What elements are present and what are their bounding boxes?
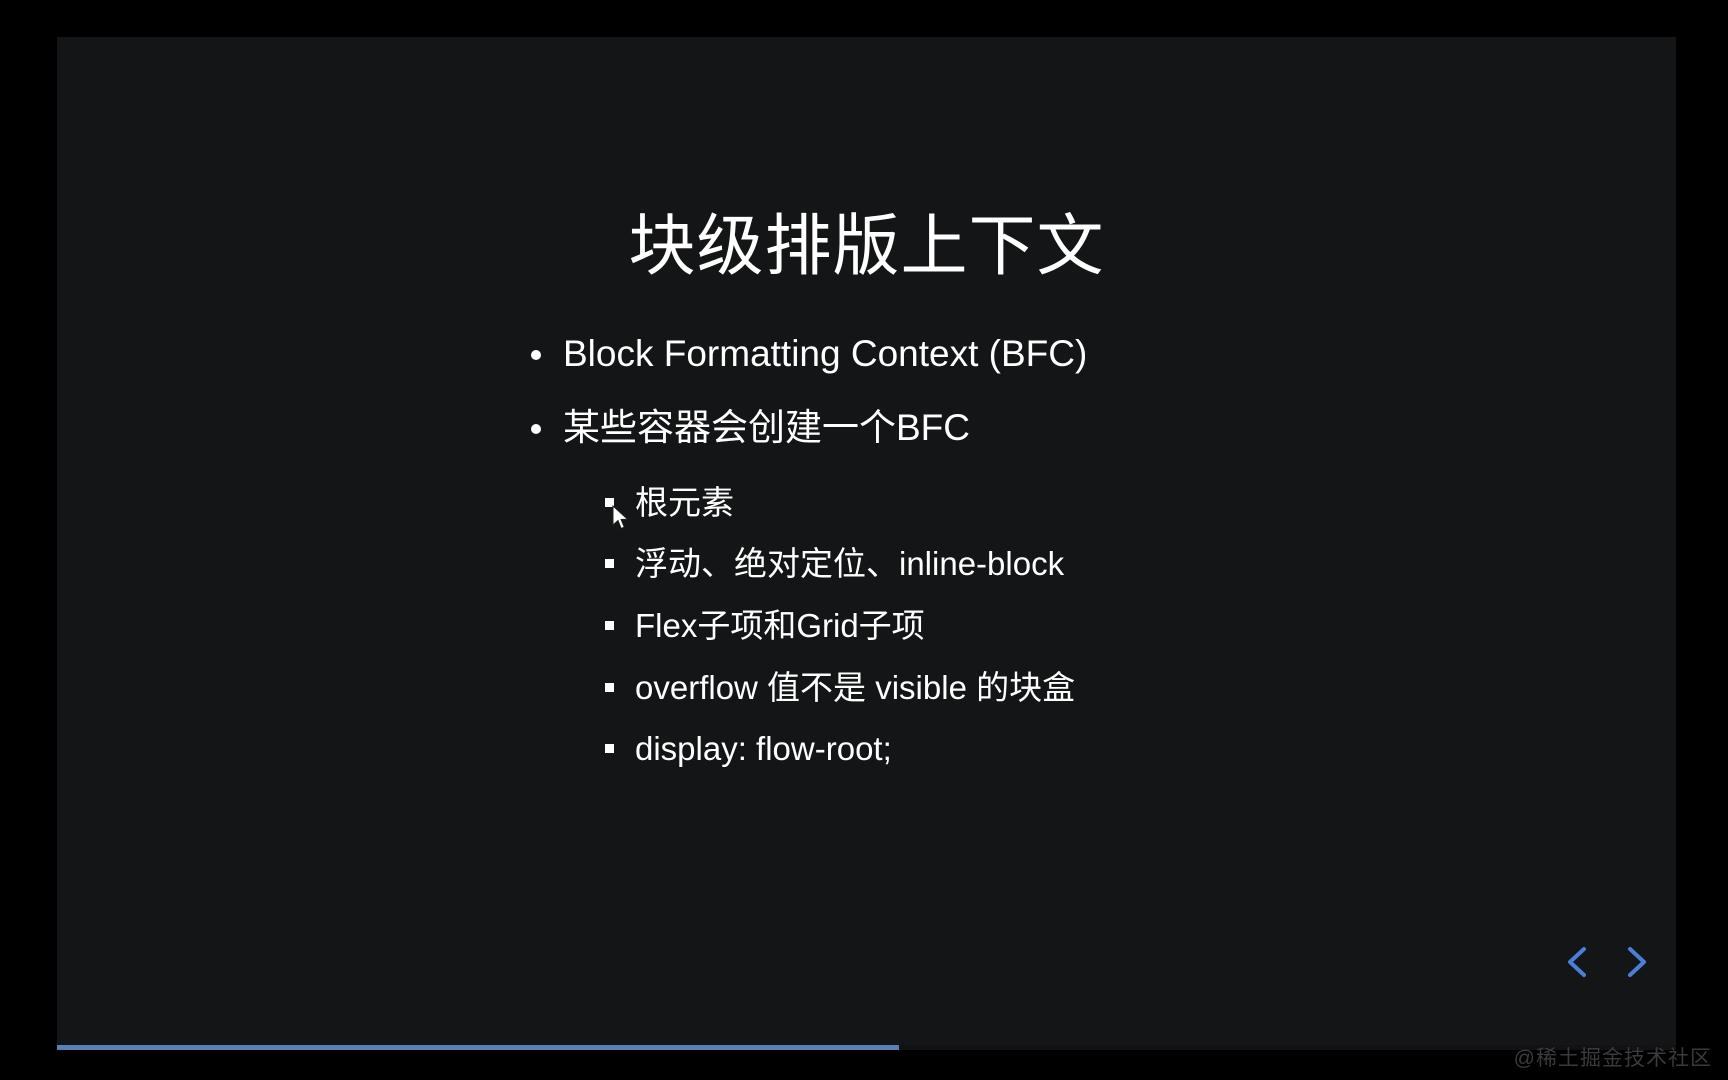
- disc-bullet-icon: [531, 424, 541, 434]
- slide-title: 块级排版上下文: [57, 207, 1676, 286]
- chevron-right-icon[interactable]: [1620, 941, 1654, 983]
- playback-progress-track[interactable]: [57, 1045, 1676, 1050]
- bullet-label: 某些容器会创建一个BFC: [563, 407, 970, 448]
- presentation-slide: 块级排版上下文 Block Formatting Context (BFC) 某…: [57, 37, 1676, 1045]
- square-bullet-icon: [605, 744, 614, 753]
- sub-bullet-item-overflow-not-visible: overflow 值不是 visible 的块盒: [603, 668, 1575, 708]
- sub-bullet-item-flex-grid-items: Flex子项和Grid子项: [603, 606, 1575, 646]
- square-bullet-icon: [605, 498, 614, 507]
- sub-bullet-item-display-flow-root: display: flow-root;: [603, 729, 1575, 769]
- square-bullet-icon: [605, 683, 614, 692]
- sub-bullet-label: overflow 值不是 visible 的块盒: [635, 669, 1075, 706]
- bullet-item-bfc-definition: Block Formatting Context (BFC): [525, 332, 1575, 376]
- sub-bullet-item-float-absolute-inlineblock: 浮动、绝对定位、inline-block: [603, 544, 1575, 584]
- disc-bullet-icon: [531, 350, 541, 360]
- video-player-canvas[interactable]: 块级排版上下文 Block Formatting Context (BFC) 某…: [0, 0, 1728, 1080]
- sub-bullet-label: 根元素: [635, 484, 734, 521]
- sub-bullet-label: display: flow-root;: [635, 730, 892, 767]
- bullet-label: Block Formatting Context (BFC): [563, 333, 1087, 374]
- playback-progress-fill: [57, 1045, 899, 1050]
- slide-body-content: Block Formatting Context (BFC) 某些容器会创建一个…: [525, 332, 1575, 791]
- sub-bullet-label: Flex子项和Grid子项: [635, 607, 925, 644]
- square-bullet-icon: [605, 559, 614, 568]
- bullet-item-bfc-creators: 某些容器会创建一个BFC: [525, 406, 1575, 450]
- square-bullet-icon: [605, 621, 614, 630]
- sub-bullet-item-root-element: 根元素: [603, 483, 1575, 523]
- chevron-left-icon[interactable]: [1560, 941, 1594, 983]
- slide-navigation: [1560, 941, 1654, 983]
- sub-bullet-label: 浮动、绝对定位、inline-block: [635, 545, 1064, 582]
- sub-bullet-list: 根元素 浮动、绝对定位、inline-block Flex子项和Grid子项 o…: [525, 483, 1575, 769]
- watermark-label: @稀土掘金技术社区: [1514, 1042, 1712, 1072]
